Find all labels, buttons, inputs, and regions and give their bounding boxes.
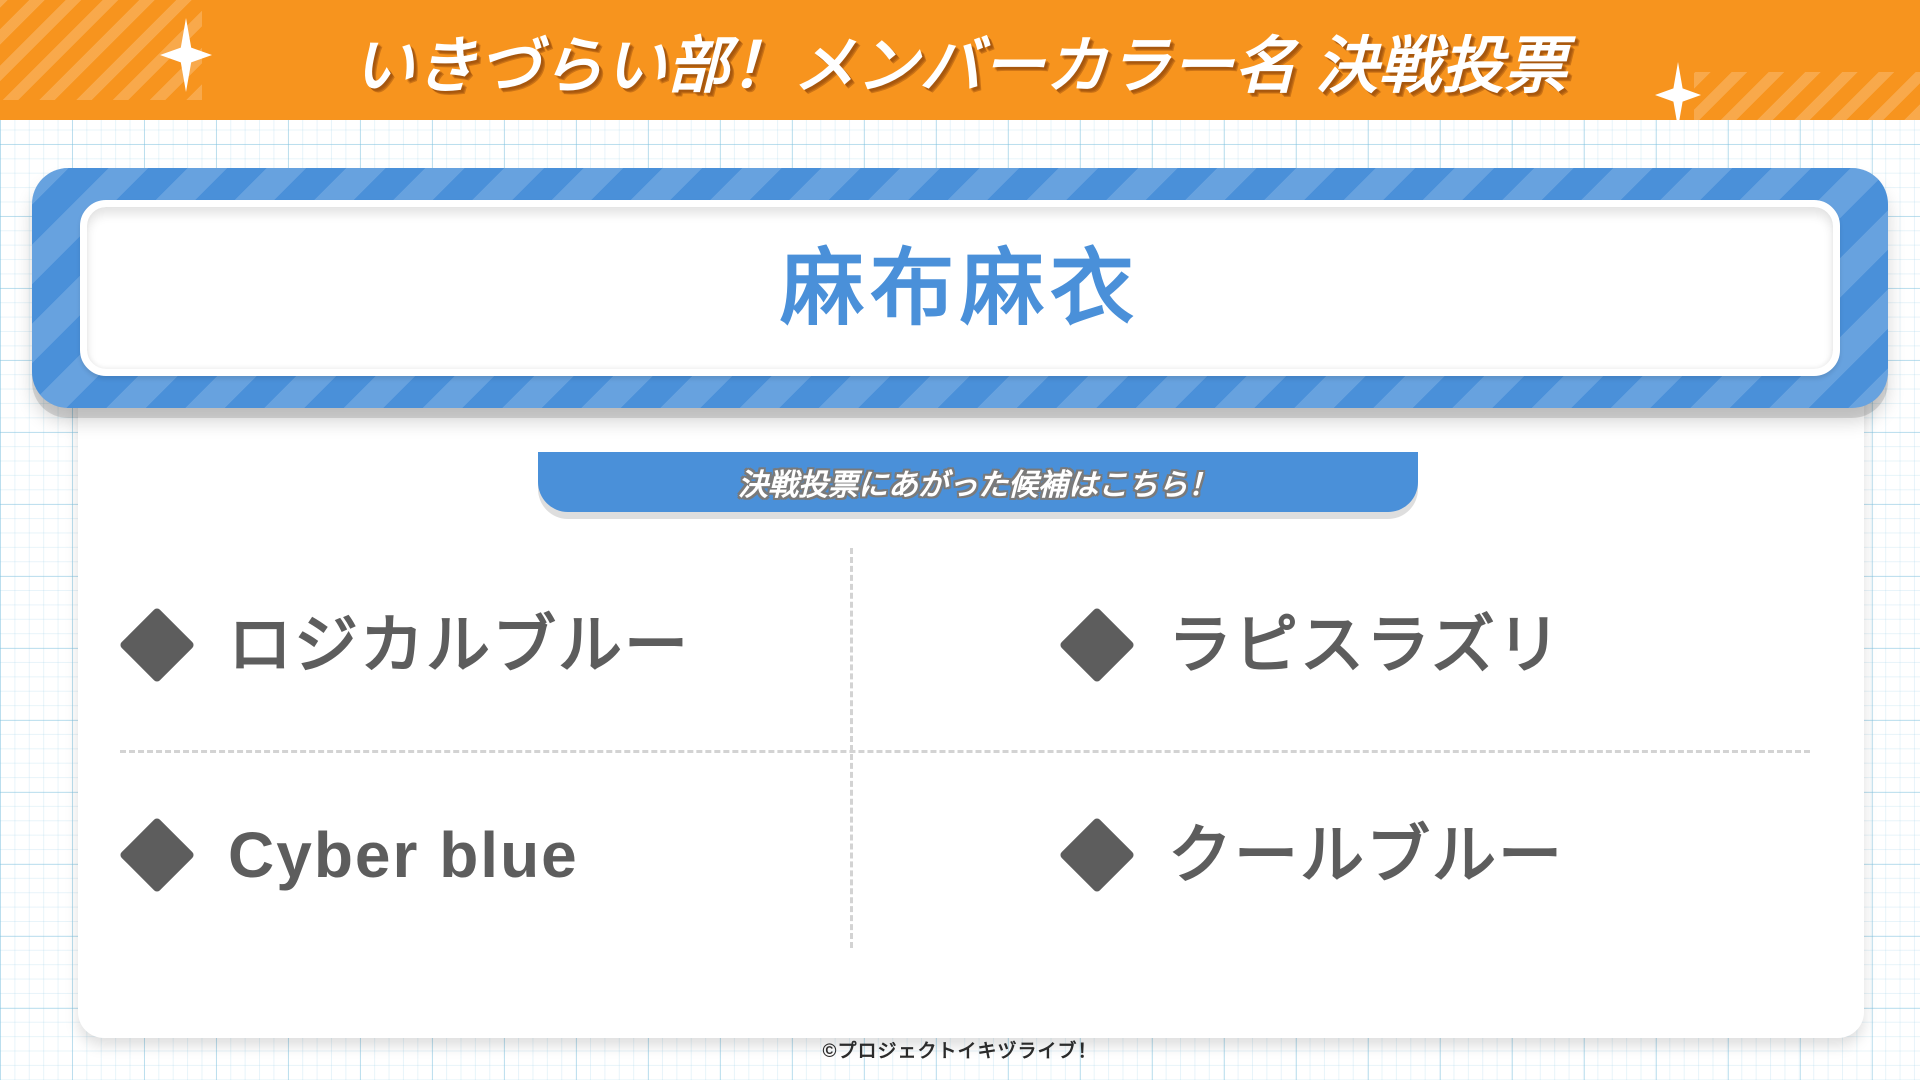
diamond-icon (1059, 607, 1135, 683)
candidate-label: ロジカルブルー (228, 613, 690, 677)
candidate-label: クールブルー (1168, 823, 1564, 887)
candidate-label: ラピスラズリ (1168, 613, 1563, 677)
candidate-option-2[interactable]: ラピスラズリ (970, 540, 1820, 750)
footer: ©プロジェクトイキヅライブ！ (0, 1036, 1920, 1063)
diamond-icon (119, 817, 195, 893)
page-root: いきづらい部！メンバーカラー名 決戦投票 麻布麻衣 決戦投票にあがった候補はこち… (0, 0, 1920, 1080)
candidate-label: Cyber blue (228, 823, 579, 887)
candidate-option-3[interactable]: Cyber blue (120, 750, 970, 960)
candidate-option-1[interactable]: ロジカルブルー (120, 540, 970, 750)
candidate-option-4[interactable]: クールブルー (970, 750, 1820, 960)
candidate-grid: ロジカルブルー ラピスラズリ Cyber blue クールブルー (120, 540, 1820, 960)
diamond-icon (119, 607, 195, 683)
header-band: いきづらい部！メンバーカラー名 決戦投票 (0, 0, 1920, 120)
member-name-plate: 麻布麻衣 (80, 200, 1840, 376)
page-title: いきづらい部！メンバーカラー名 決戦投票 (0, 0, 1920, 120)
member-name-text: 麻布麻衣 (780, 246, 1140, 330)
subtitle-pill: 決戦投票にあがった候補はこちら！ (538, 452, 1418, 512)
diamond-icon (1059, 817, 1135, 893)
member-name-banner: 麻布麻衣 (32, 168, 1888, 408)
subtitle-label: 決戦投票にあがった候補はこちら！ (738, 460, 1218, 504)
copyright-text: ©プロジェクトイキヅライブ！ (822, 1041, 1097, 1062)
